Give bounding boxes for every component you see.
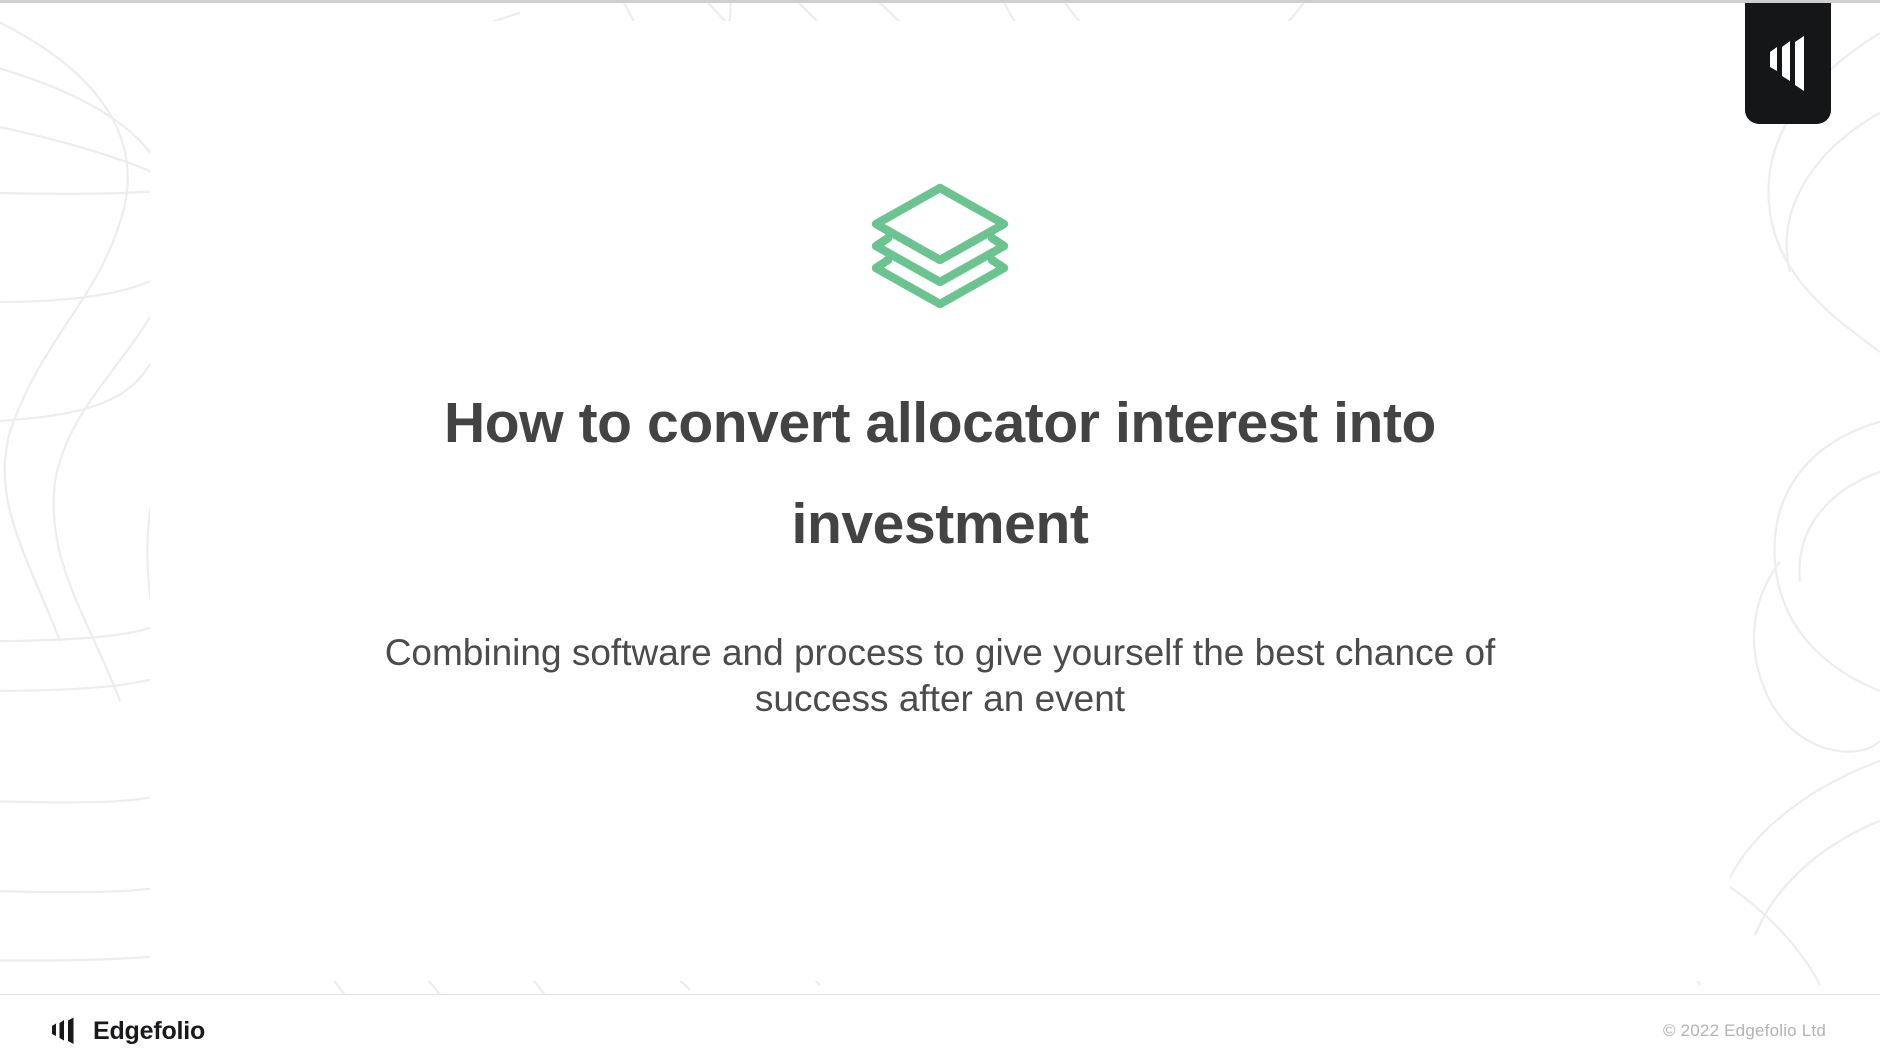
layers-icon xyxy=(866,179,1014,313)
copyright-text: © 2022 Edgefolio Ltd xyxy=(1663,1021,1826,1041)
edgefolio-brand: Edgefolio xyxy=(50,1017,205,1046)
slide-footer: Edgefolio © 2022 Edgefolio Ltd xyxy=(0,995,1880,1064)
brand-name: Edgefolio xyxy=(93,1017,205,1046)
edgefolio-mark-icon xyxy=(1766,36,1810,92)
slide-content: How to convert allocator interest into i… xyxy=(0,3,1880,1064)
edgefolio-badge xyxy=(1745,3,1831,124)
page-subtitle: Combining software and process to give y… xyxy=(320,630,1560,723)
presentation-slide: How to convert allocator interest into i… xyxy=(0,0,1880,1064)
page-title: How to convert allocator interest into i… xyxy=(335,373,1545,576)
edgefolio-mark-icon xyxy=(50,1017,80,1045)
